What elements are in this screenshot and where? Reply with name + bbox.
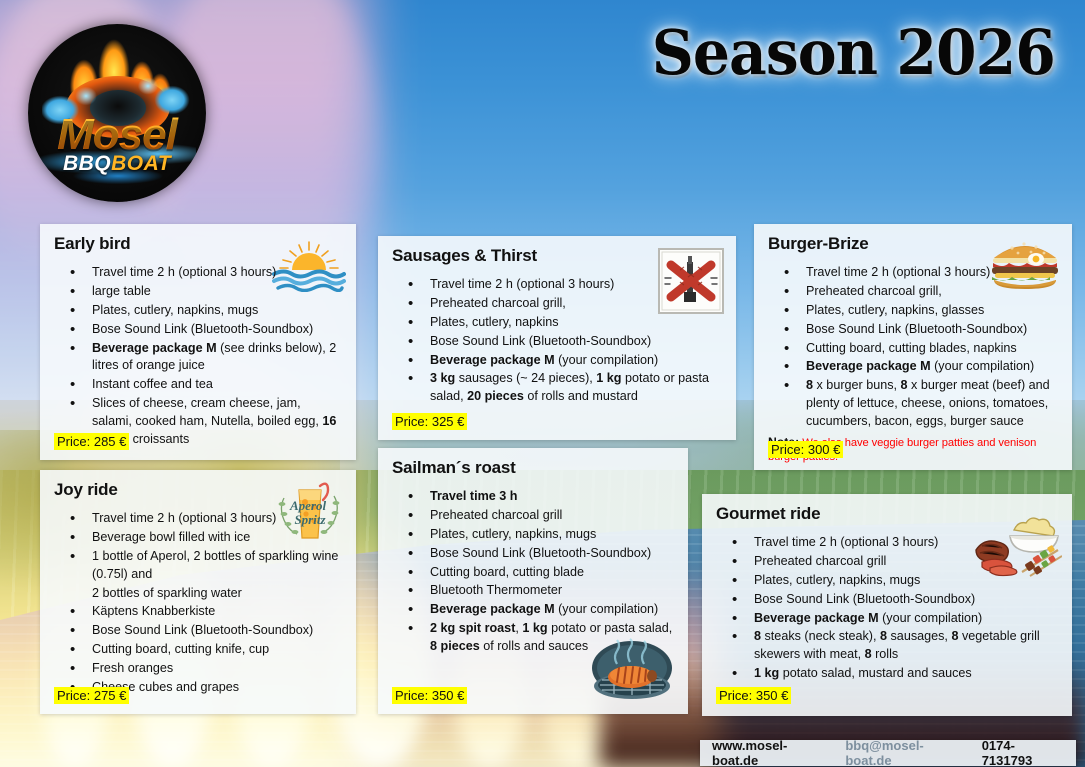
card-list-item: 2 bottles of sparkling water <box>70 585 342 603</box>
card-list-item: Bose Sound Link (Bluetooth-Soundbox) <box>70 622 342 640</box>
package-card-early-bird[interactable]: Early bird Travel time 2 h (optional 3 h… <box>40 224 356 460</box>
card-title: Sailman´s roast <box>392 458 674 478</box>
logo-subtitle: BBQBOAT <box>28 152 206 176</box>
card-list-item: 8 x burger buns, 8 x burger meat (beef) … <box>784 377 1058 431</box>
card-list-item: Cutting board, cutting knife, cup <box>70 641 342 659</box>
card-list-item: Travel time 2 h (optional 3 hours) <box>408 276 722 294</box>
package-card-joy-ride[interactable]: Joy ride Aperol Spritz Travel time 2 h <box>40 470 356 714</box>
card-list-item: Beverage package M (your compilation) <box>784 358 1058 376</box>
card-list-item: Travel time 2 h (optional 3 hours) <box>70 510 342 528</box>
card-list-item: Bose Sound Link (Bluetooth-Soundbox) <box>408 333 722 351</box>
card-list-item: Travel time 2 h (optional 3 hours) <box>784 264 1058 282</box>
phone-number[interactable]: 0174-7131793 <box>982 738 1064 767</box>
price-badge: Price: 275 € <box>54 687 129 704</box>
card-list-item: Fresh oranges <box>70 660 342 678</box>
card-list-item: Bose Sound Link (Bluetooth-Soundbox) <box>70 321 342 339</box>
card-list-item: Bose Sound Link (Bluetooth-Soundbox) <box>784 321 1058 339</box>
card-list-item: Beverage package M (your compilation) <box>732 610 1058 628</box>
package-card-sausages-thirst[interactable]: Sausages & Thirst Travel time 2 h (op <box>378 236 736 440</box>
card-item-list: Travel time 2 h (optional 3 hours)Prehea… <box>408 276 722 406</box>
card-list-item: Preheated charcoal grill, <box>408 295 722 313</box>
card-list-item: Plates, cutlery, napkins, mugs <box>70 302 342 320</box>
contact-footer-bar: www.mosel-boat.de bbq@mosel-boat.de 0174… <box>700 740 1076 766</box>
card-item-list: Travel time 2 h (optional 3 hours)Bevera… <box>70 510 342 697</box>
card-list-item: Bluetooth Thermometer <box>408 582 674 600</box>
price-badge: Price: 300 € <box>768 441 843 458</box>
card-list-item: Beverage bowl filled with ice <box>70 529 342 547</box>
card-item-list: Travel time 2 h (optional 3 hours)Prehea… <box>732 534 1058 683</box>
card-list-item: Travel time 3 h <box>408 488 674 506</box>
card-list-item: Travel time 2 h (optional 3 hours) <box>70 264 342 282</box>
card-item-list: Travel time 2 h (optional 3 hours)Prehea… <box>784 264 1058 431</box>
card-item-list: Travel time 2 h (optional 3 hours)large … <box>70 264 342 449</box>
price-badge: Price: 350 € <box>716 687 791 704</box>
card-list-item: 8 steaks (neck steak), 8 sausages, 8 veg… <box>732 628 1058 664</box>
card-list-item: 2 kg spit roast, 1 kg potato or pasta sa… <box>408 620 674 656</box>
package-card-burger-brize[interactable]: Burger-Brize Travel time 2 h (optional 3… <box>754 224 1072 470</box>
logo-bbq-text: BBQ <box>63 152 111 175</box>
email-link[interactable]: bbq@mosel-boat.de <box>845 738 967 767</box>
card-list-item: Plates, cutlery, napkins, mugs <box>408 526 674 544</box>
card-list-item: Bose Sound Link (Bluetooth-Soundbox) <box>732 591 1058 609</box>
card-list-item: 1 kg potato salad, mustard and sauces <box>732 665 1058 683</box>
mosel-bbq-boat-logo[interactable]: Mosel BBQBOAT <box>28 24 206 202</box>
card-list-item: Plates, cutlery, napkins, glasses <box>784 302 1058 320</box>
card-list-item: Käptens Knabberkiste <box>70 603 342 621</box>
package-card-sailmans-roast[interactable]: Sailman´s roast <box>378 448 688 714</box>
card-list-item: large table <box>70 283 342 301</box>
price-badge: Price: 285 € <box>54 433 129 450</box>
card-list-item: Beverage package M (your compilation) <box>408 601 674 619</box>
card-item-list: Travel time 3 hPreheated charcoal grillP… <box>408 488 674 656</box>
card-list-item: Plates, cutlery, napkins, mugs <box>732 572 1058 590</box>
card-list-item: Plates, cutlery, napkins <box>408 314 722 332</box>
card-list-item: Cutting board, cutting blades, napkins <box>784 340 1058 358</box>
card-list-item: Beverage package M (your compilation) <box>408 352 722 370</box>
card-list-item: Preheated charcoal grill, <box>784 283 1058 301</box>
price-badge: Price: 325 € <box>392 413 467 430</box>
card-list-item: Preheated charcoal grill <box>732 553 1058 571</box>
website-link[interactable]: www.mosel-boat.de <box>712 738 831 767</box>
package-card-gourmet-ride[interactable]: Gourmet ride <box>702 494 1072 716</box>
card-list-item: Beverage package M (see drinks below), 2… <box>70 340 342 376</box>
card-list-item: Preheated charcoal grill <box>408 507 674 525</box>
card-list-item: Travel time 2 h (optional 3 hours) <box>732 534 1058 552</box>
card-list-item: Cutting board, cutting blade <box>408 564 674 582</box>
page-title: Season 2026 <box>652 16 1055 89</box>
card-list-item: Instant coffee and tea <box>70 376 342 394</box>
card-list-item: Bose Sound Link (Bluetooth-Soundbox) <box>408 545 674 563</box>
price-badge: Price: 350 € <box>392 687 467 704</box>
logo-boat-text: BOAT <box>111 152 171 175</box>
poster-canvas: Mosel BBQBOAT Season 2026 Early bird Tra… <box>0 0 1085 767</box>
card-list-item: 3 kg sausages (~ 24 pieces), 1 kg potato… <box>408 370 722 406</box>
card-list-item: 1 bottle of Aperol, 2 bottles of sparkli… <box>70 548 342 584</box>
